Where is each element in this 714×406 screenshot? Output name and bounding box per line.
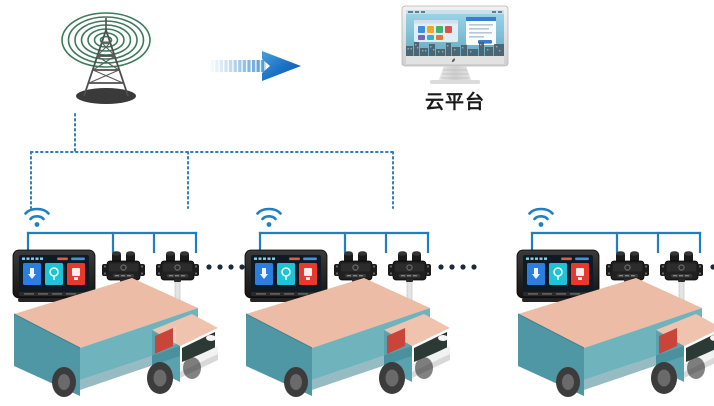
truck-3	[512, 268, 714, 401]
vehicle-unit-1	[8, 200, 223, 401]
desktop-monitor-icon	[400, 4, 510, 88]
box-truck-icon	[2, 268, 222, 401]
box-truck-icon	[234, 268, 454, 401]
diagram-canvas: 云平台	[0, 0, 714, 401]
wifi-icon-2	[254, 204, 284, 230]
box-truck-icon	[512, 268, 714, 401]
vehicle-unit-3	[512, 200, 714, 401]
wifi-icon	[22, 204, 52, 230]
cloud-platform-monitor	[400, 4, 510, 88]
upload-arrow	[206, 48, 306, 84]
truck-1	[2, 268, 222, 401]
wifi-icon-3	[526, 204, 556, 230]
radio-tower-icon	[48, 4, 164, 104]
radio-tower	[48, 4, 164, 104]
wifi-icon	[526, 204, 556, 230]
truck-2	[234, 268, 454, 401]
arrow-right-icon	[206, 48, 306, 84]
vehicle-unit-2	[240, 200, 455, 401]
wifi-icon	[254, 204, 284, 230]
wifi-icon-1	[22, 204, 52, 230]
